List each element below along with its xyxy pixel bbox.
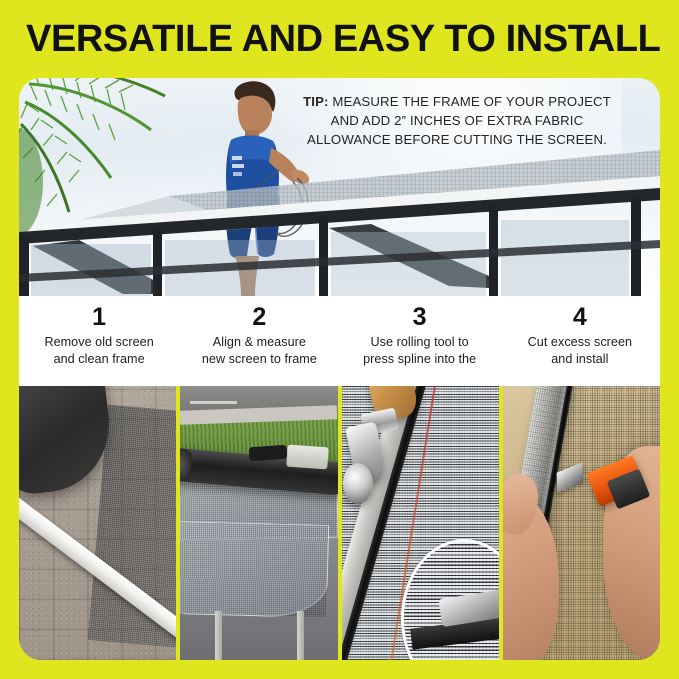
step-text-1-line2: and clean frame <box>54 352 145 366</box>
step-text-4-line1: Cut excess screen <box>528 335 632 349</box>
tip-line-1: MEASURE THE FRAME OF YOUR PROJECT <box>329 94 611 109</box>
tool-on-table <box>286 445 328 470</box>
hero-panel: TIP: MEASURE THE FRAME OF YOUR PROJECT A… <box>19 78 660 296</box>
tip-text: TIP: MEASURE THE FRAME OF YOUR PROJECT A… <box>268 92 646 149</box>
tip-line-2: AND ADD 2” INCHES OF EXTRA FABRIC <box>331 113 584 128</box>
steps-photo-grid <box>19 386 660 660</box>
step-number-3: 3 <box>413 303 427 332</box>
step-text-2: Align & measure new screen to frame <box>196 334 323 367</box>
step-photo-4 <box>503 386 660 660</box>
step-text-3: Use rolling tool to press spline into th… <box>357 334 482 367</box>
step-number-2: 2 <box>252 303 266 332</box>
tip-label: TIP: <box>303 94 329 109</box>
step-text-4: Cut excess screen and install <box>522 334 638 367</box>
roller-wheel <box>343 463 373 504</box>
step-number-4: 4 <box>573 303 587 332</box>
step-text-1: Remove old screen and clean frame <box>38 334 159 367</box>
step-caption-2: 2 Align & measure new screen to frame <box>179 296 339 386</box>
patio-enclosure-structure <box>19 136 660 296</box>
table-leg-left <box>215 611 222 660</box>
tip-line-3: ALLOWANCE BEFORE CUTTING THE SCREEN. <box>307 132 607 147</box>
step-caption-4: 4 Cut excess screen and install <box>500 296 660 386</box>
step-text-2-line1: Align & measure <box>213 335 306 349</box>
step-text-2-line2: new screen to frame <box>202 352 317 366</box>
step-text-4-line2: and install <box>551 352 608 366</box>
step-number-1: 1 <box>92 303 106 332</box>
screen-panel-lower <box>180 521 329 618</box>
page-title: VERSATILE AND EASY TO INSTALL <box>26 18 660 61</box>
step-text-1-line1: Remove old screen <box>44 335 153 349</box>
step-photo-3 <box>342 386 499 660</box>
step-text-3-line1: Use rolling tool to <box>370 335 468 349</box>
step-caption-3: 3 Use rolling tool to press spline into … <box>340 296 500 386</box>
table-leg-right <box>297 611 304 660</box>
poster-header: VERSATILE AND EASY TO INSTALL <box>0 0 679 78</box>
steps-caption-band: 1 Remove old screen and clean frame 2 Al… <box>19 296 660 386</box>
step-photo-2 <box>180 386 337 660</box>
step-text-3-line2: press spline into the <box>363 352 476 366</box>
product-infographic: VERSATILE AND EASY TO INSTALL <box>0 0 679 679</box>
step-caption-1: 1 Remove old screen and clean frame <box>19 296 179 386</box>
step-photo-1 <box>19 386 176 660</box>
